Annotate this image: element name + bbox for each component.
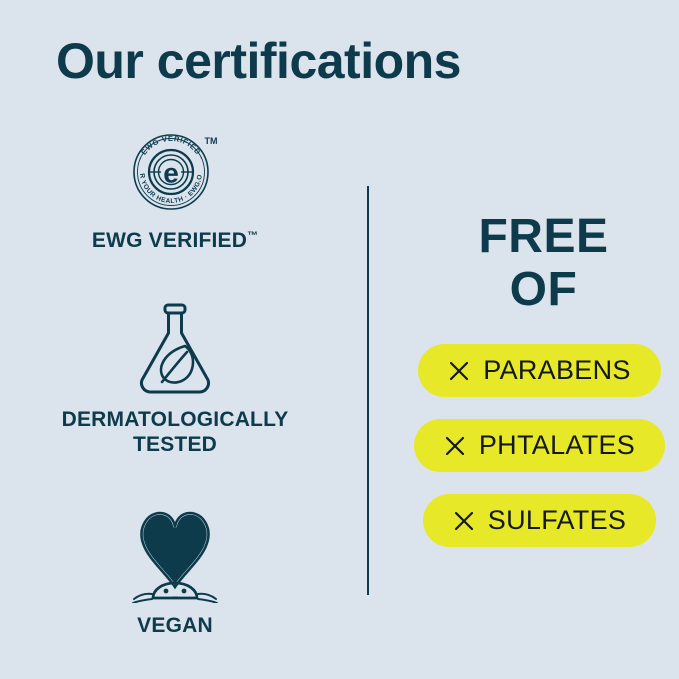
ewg-verified-seal-icon: · EWG VERIFIED · FOR YOUR HEALTH · EWG.O… xyxy=(0,128,350,214)
cross-x-icon xyxy=(453,510,475,532)
trademark-symbol: ™ xyxy=(247,230,258,242)
free-of-heading-line-2: OF xyxy=(408,263,679,316)
svg-text:e: e xyxy=(163,158,179,189)
certification-item-dermatologically-tested: DERMATOLOGICALLY TESTED xyxy=(0,297,350,457)
certification-label-line-2: TESTED xyxy=(0,432,350,457)
free-of-section: FREE OF PARABENS xyxy=(400,210,679,547)
certification-label-line-1: DERMATOLOGICALLY xyxy=(0,407,350,432)
cross-x-icon xyxy=(444,435,466,457)
svg-text:TM: TM xyxy=(205,136,218,146)
certification-label-dermatologically-tested: DERMATOLOGICALLY TESTED xyxy=(0,407,350,457)
free-of-pill-label: PHTALATES xyxy=(479,430,635,461)
cross-x-icon xyxy=(448,360,470,382)
free-of-heading: FREE OF xyxy=(408,210,679,316)
free-of-pill-phtalates: PHTALATES xyxy=(414,419,665,472)
free-of-pill-list: PARABENS PHTALATES xyxy=(400,344,679,547)
free-of-pill-parabens: PARABENS xyxy=(418,344,660,397)
certifications-panel: Our certifications · EWG VERIFIED · xyxy=(0,0,679,679)
rabbit-heart-ears-icon xyxy=(0,495,350,603)
page-title: Our certifications xyxy=(56,32,461,90)
flask-with-leaf-icon xyxy=(0,297,350,397)
certification-item-vegan: VEGAN xyxy=(0,495,350,638)
certification-label-text: EWG VERIFIED xyxy=(92,229,247,252)
certification-item-ewg-verified: · EWG VERIFIED · FOR YOUR HEALTH · EWG.O… xyxy=(0,128,350,253)
free-of-pill-label: SULFATES xyxy=(488,505,626,536)
free-of-pill-sulfates: SULFATES xyxy=(423,494,656,547)
certification-label-vegan: VEGAN xyxy=(0,613,350,638)
free-of-pill-label: PARABENS xyxy=(483,355,630,386)
free-of-heading-line-1: FREE xyxy=(408,210,679,263)
certifications-list: · EWG VERIFIED · FOR YOUR HEALTH · EWG.O… xyxy=(0,128,350,660)
certification-label-ewg-verified: EWG VERIFIED™ xyxy=(0,224,350,253)
vertical-divider xyxy=(367,186,369,595)
